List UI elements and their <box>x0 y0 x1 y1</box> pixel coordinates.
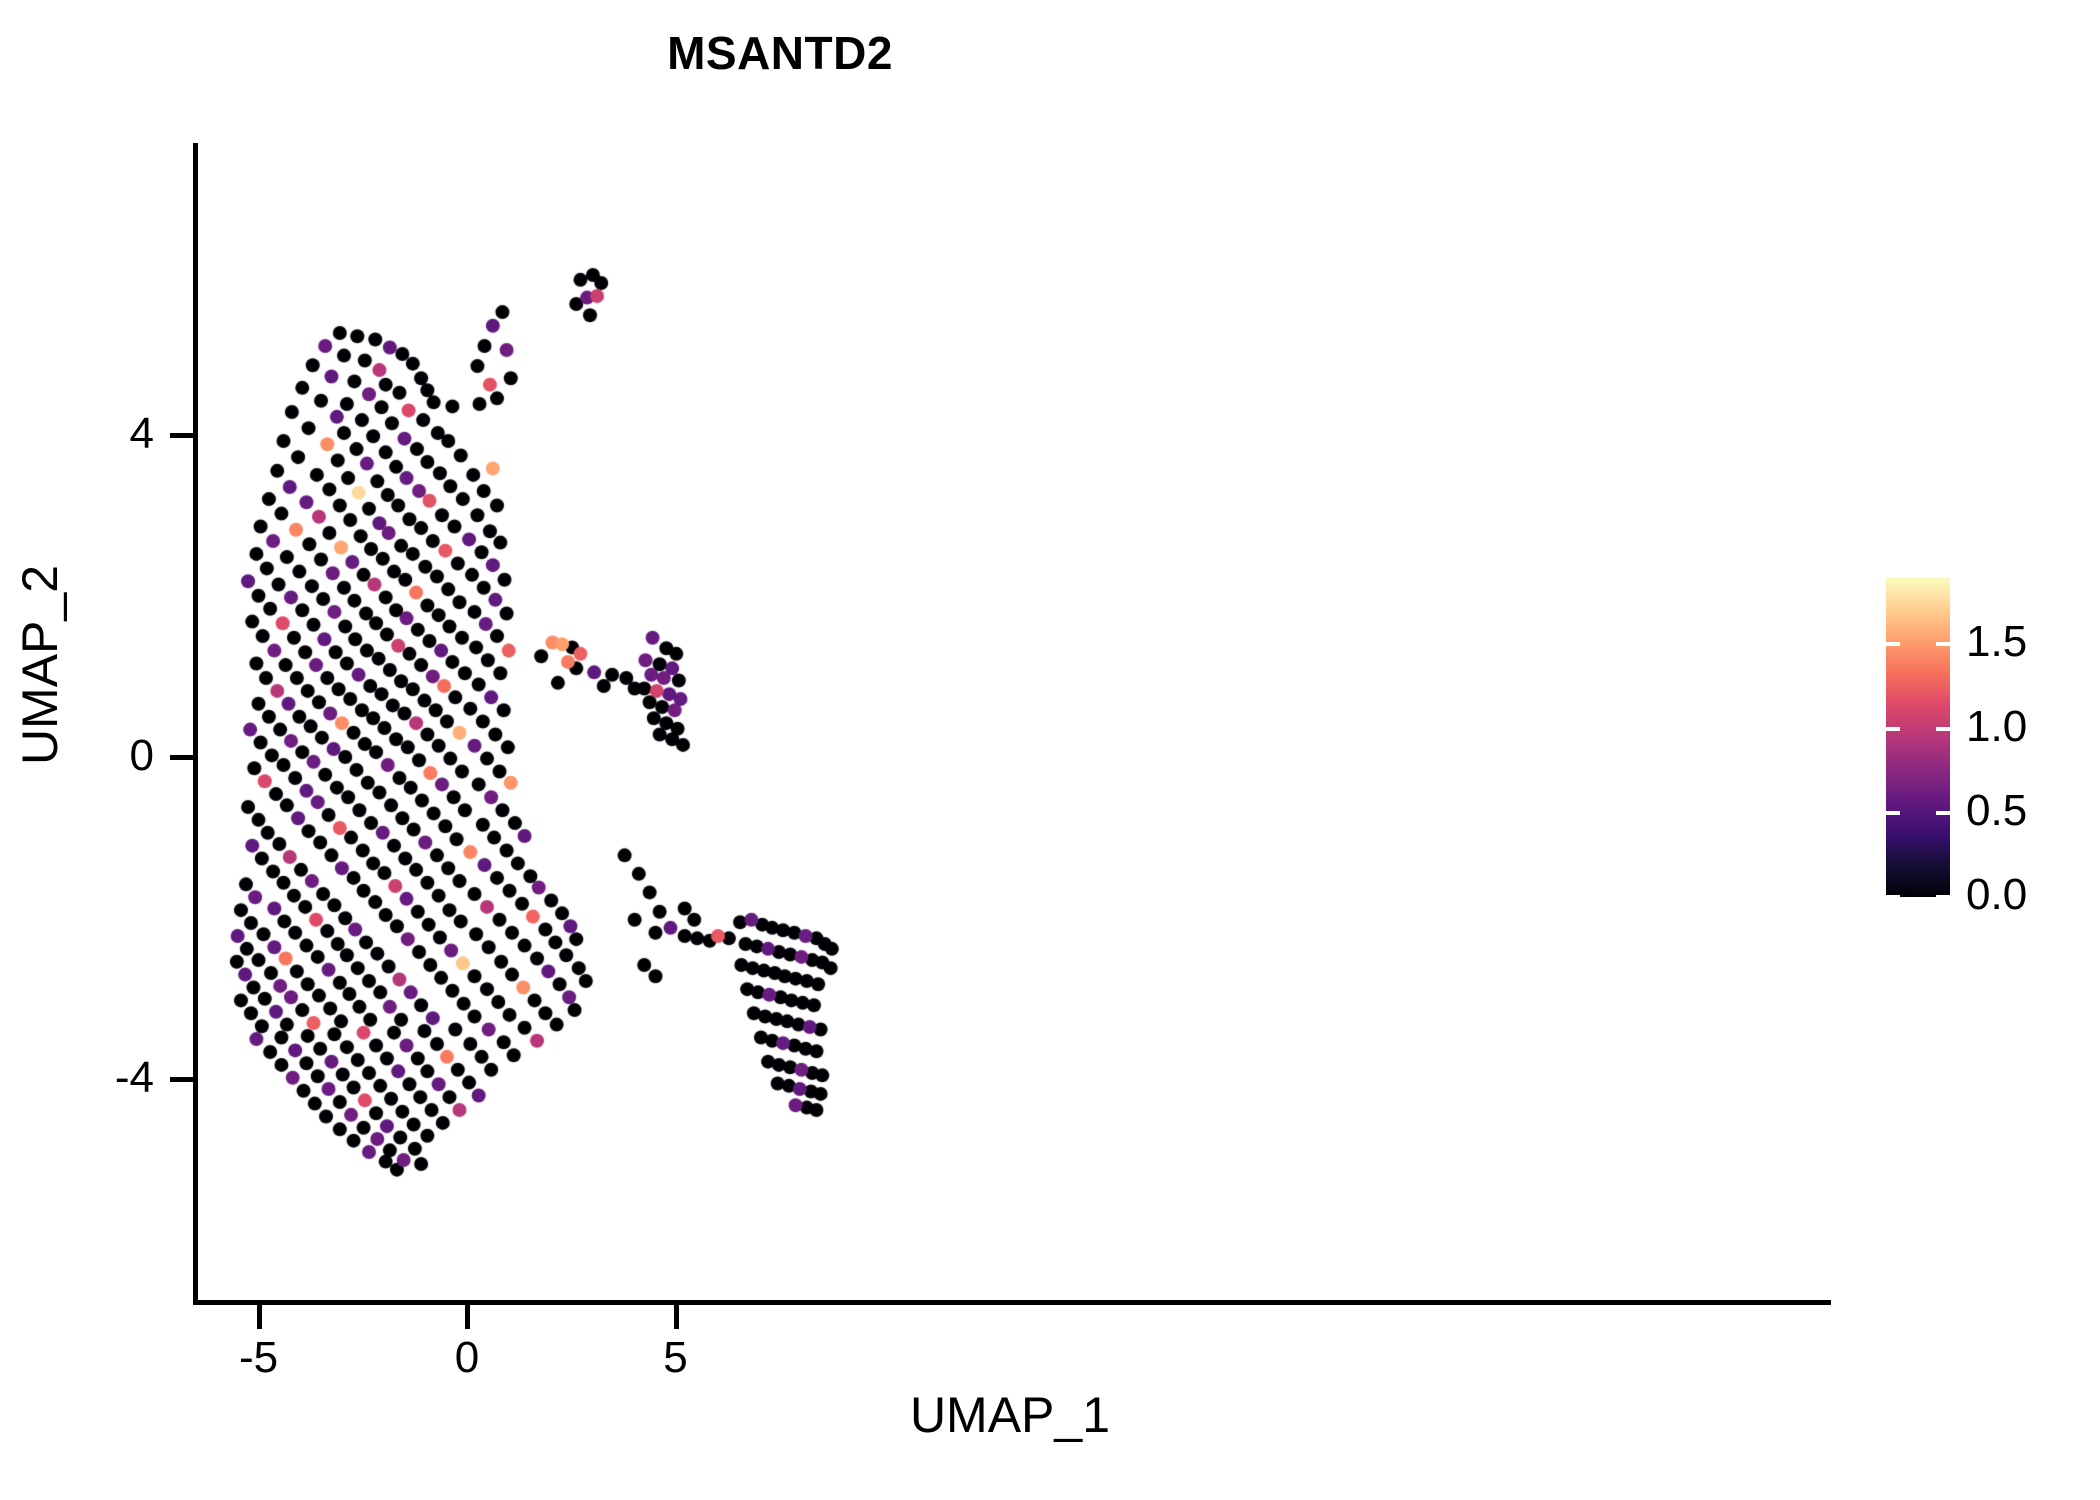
x-axis-tick-label: 0 <box>387 1336 547 1380</box>
y-axis-label: UMAP_2 <box>11 535 69 795</box>
x-axis-label: UMAP_1 <box>810 1386 1210 1444</box>
x-axis-tick-label: -5 <box>179 1336 339 1380</box>
colorbar-tick-mark <box>1886 727 1900 731</box>
x-axis-tick-mark <box>674 1305 679 1329</box>
colorbar-tick-label: 1.0 <box>1966 705 2100 749</box>
colorbar-tick-mark <box>1886 642 1900 646</box>
colorbar-tick-mark <box>1936 811 1950 815</box>
colorbar-tick-mark <box>1936 727 1950 731</box>
x-axis-tick-mark <box>257 1305 262 1329</box>
plot-panel: -404-505 UMAP_2 UMAP_1 <box>0 0 2100 1500</box>
colorbar-tick-mark <box>1936 642 1950 646</box>
x-axis-tick-label: 5 <box>596 1336 756 1380</box>
y-axis-tick-label: 4 <box>26 412 154 456</box>
colorbar-tick-label: 0.5 <box>1966 789 2100 833</box>
colorbar-tick-label: 1.5 <box>1966 620 2100 664</box>
colorbar-tick-label: 0.0 <box>1966 873 2100 917</box>
colorbar-tick-mark <box>1936 895 1950 899</box>
scatter-plot-points <box>193 143 1831 1303</box>
y-axis-tick-mark <box>170 433 194 438</box>
chart-root: MSANTD2 -404-505 UMAP_2 UMAP_1 0.00.51.0… <box>0 0 2100 1500</box>
colorbar-gradient <box>1886 577 1950 897</box>
y-axis-tick-mark <box>170 1077 194 1082</box>
colorbar-tick-mark <box>1886 811 1900 815</box>
x-axis-tick-mark <box>465 1305 470 1329</box>
colorbar-tick-mark <box>1886 895 1900 899</box>
y-axis-tick-mark <box>170 755 194 760</box>
y-axis-tick-label: -4 <box>26 1056 154 1100</box>
